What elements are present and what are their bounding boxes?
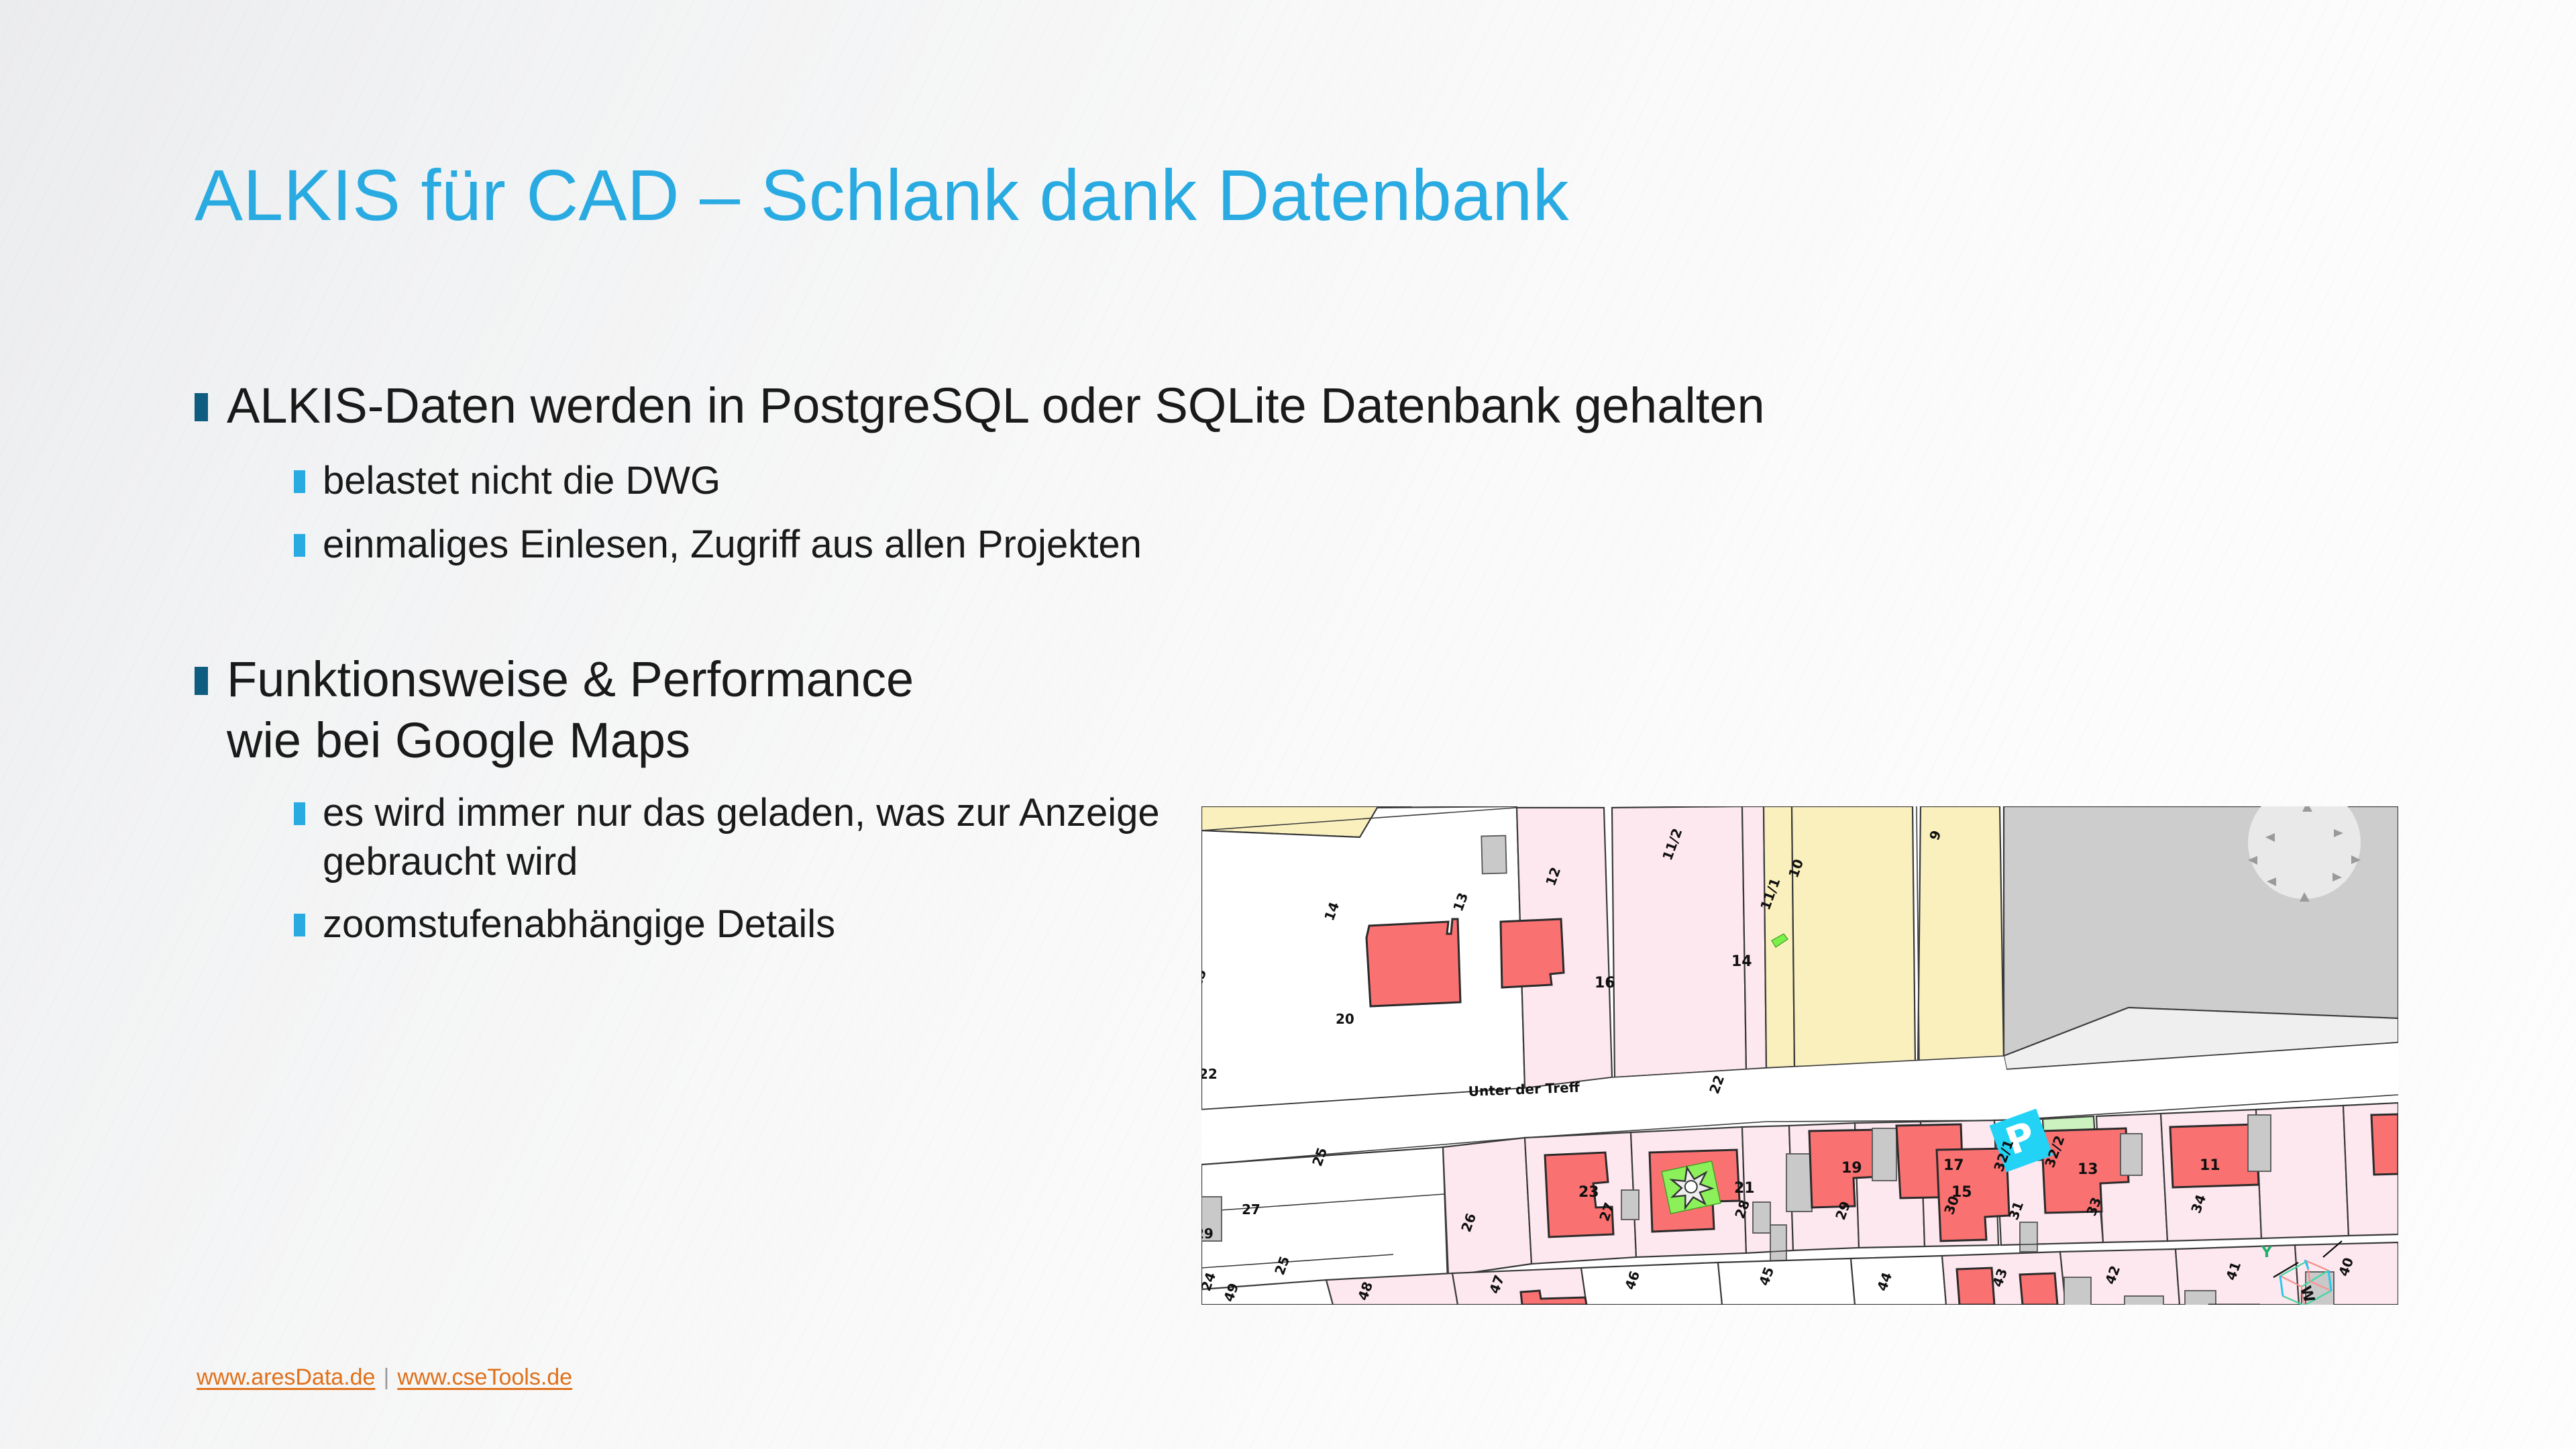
svg-text:16: 16 bbox=[1595, 975, 1615, 991]
svg-text:27: 27 bbox=[1242, 1201, 1260, 1218]
bullet-level1-label: ALKIS-Daten werden in PostgreSQL oder SQ… bbox=[227, 376, 2314, 436]
footer-separator: | bbox=[375, 1364, 397, 1390]
bullet-level2-label: einmaliges Einlesen, Zugriff aus allen P… bbox=[323, 520, 2314, 569]
bullet-group-funktionsweise: Funktionsweise & Performance wie bei Goo… bbox=[195, 649, 1241, 949]
svg-text:22: 22 bbox=[1201, 1066, 1218, 1082]
bullet-level1-label-line2: wie bei Google Maps bbox=[227, 712, 690, 768]
svg-text:14: 14 bbox=[1731, 953, 1752, 970]
bullet-level2-label: es wird immer nur das geladen, was zur A… bbox=[323, 788, 1241, 886]
bullet-marker-icon bbox=[195, 393, 208, 421]
svg-text:29: 29 bbox=[1201, 1226, 1214, 1242]
bullet-marker-icon bbox=[294, 914, 305, 936]
spacer bbox=[195, 505, 2314, 520]
bullet-level2-es-wird-immer-nur-geladen: es wird immer nur das geladen, was zur A… bbox=[294, 788, 1241, 886]
page-title: ALKIS für CAD – Schlank dank Datenbank bbox=[195, 156, 2274, 235]
spacer bbox=[195, 886, 1241, 900]
svg-text:13: 13 bbox=[2078, 1161, 2098, 1178]
bullet-level2-label: zoomstufenabhängige Details bbox=[323, 900, 1241, 949]
bullet-marker-icon bbox=[294, 470, 305, 493]
bullet-level2-zoomstufenabhaengige-details: zoomstufenabhängige Details bbox=[294, 900, 1241, 949]
spacer bbox=[195, 771, 1241, 788]
svg-text:11: 11 bbox=[2200, 1157, 2220, 1174]
bullet-level2-belastet-nicht-dwg: belastet nicht die DWG bbox=[294, 456, 2314, 505]
spacer bbox=[195, 569, 2314, 649]
cadastral-map-image: .ln { stroke:#3A3A3A; stroke-width:2.2; … bbox=[1201, 806, 2398, 1305]
map-axis-label-y: Y bbox=[2261, 1244, 2273, 1261]
svg-text:21: 21 bbox=[1734, 1180, 1755, 1197]
bullet-level1-label-line1: Funktionsweise & Performance bbox=[227, 651, 914, 707]
bullet-level1-alkis-daten: ALKIS-Daten werden in PostgreSQL oder SQ… bbox=[195, 376, 2314, 436]
footer: www.aresData.de|www.cseTools.de bbox=[197, 1364, 572, 1391]
svg-text:15: 15 bbox=[1951, 1184, 1972, 1201]
bullet-level2-label: belastet nicht die DWG bbox=[323, 456, 2314, 505]
svg-text:23: 23 bbox=[1578, 1184, 1599, 1201]
bullet-marker-icon bbox=[294, 534, 305, 557]
bullet-marker-icon bbox=[195, 667, 208, 695]
footer-link-aresdata[interactable]: www.aresData.de bbox=[197, 1364, 375, 1390]
spacer bbox=[195, 436, 2314, 456]
svg-text:20: 20 bbox=[1336, 1011, 1354, 1027]
bullet-level2-einmaliges-einlesen: einmaliges Einlesen, Zugriff aus allen P… bbox=[294, 520, 2314, 569]
bullet-level1-funktionsweise: Funktionsweise & Performance wie bei Goo… bbox=[195, 649, 1241, 771]
svg-text:19: 19 bbox=[1841, 1160, 1862, 1177]
bullet-marker-icon bbox=[294, 802, 305, 825]
slide-canvas: ALKIS für CAD – Schlank dank Datenbank A… bbox=[0, 0, 2576, 1449]
footer-link-csetools[interactable]: www.cseTools.de bbox=[397, 1364, 572, 1390]
